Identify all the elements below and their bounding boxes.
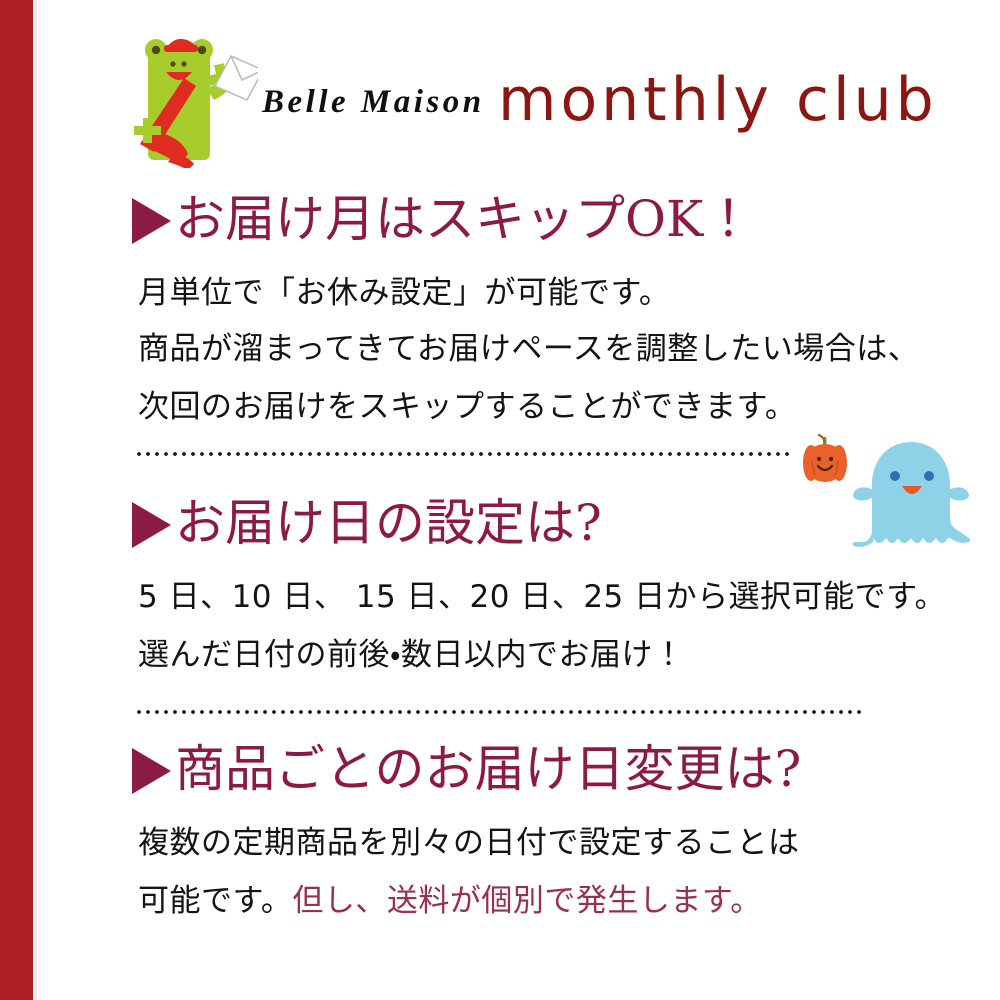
section-heading-2-label: お届け日の設定は? [175, 494, 602, 552]
section-2-line-2: 選んだ日付の前後・数日以内でお届け！ [138, 640, 685, 671]
section-heading-1: お届け月はスキップOK！ [132, 194, 753, 244]
dotted-divider-2 [137, 710, 865, 715]
right-triangle-bullet-icon [132, 502, 171, 548]
right-triangle-bullet-icon [132, 198, 171, 244]
section-heading-2: お届け日の設定は? [132, 498, 602, 548]
right-triangle-bullet-icon [132, 748, 171, 794]
section-3-line-2-accent: 但し、送料が個別で発生します。 [292, 883, 761, 919]
section-1-line-3: 次回のお届けをスキップすることができます。 [138, 392, 796, 423]
section-3-line-2-plain: 可能です。 [138, 883, 292, 919]
section-3-line-1: 複数の定期商品を別々の日付で設定することは [138, 828, 800, 859]
dotted-divider-1 [137, 452, 790, 457]
content-area: お届け月はスキップOK！ 月単位で「お休み設定」が可能です。 商品が溜まってきて… [0, 0, 1000, 1000]
section-heading-1-label: お届け月はスキップOK！ [175, 190, 753, 248]
section-heading-3: 商品ごとのお届け日変更は? [132, 744, 801, 794]
section-heading-3-label: 商品ごとのお届け日変更は? [175, 740, 801, 798]
section-2-line-1: 5 日、10 日、 15 日、20 日、25 日から選択可能です。 [138, 582, 946, 613]
promo-banner: Belle Maison monthly club お届け月はスキップOK！ 月… [0, 0, 1000, 1000]
section-3-line-2: 可能です。但し、送料が個別で発生します。 [138, 886, 762, 917]
section-1-line-2: 商品が溜まってきてお届けペースを調整したい場合は、 [138, 334, 919, 365]
ghost-icon [852, 438, 970, 550]
section-1-line-1: 月単位で「お休み設定」が可能です。 [138, 278, 670, 309]
pumpkin-icon [798, 432, 852, 486]
